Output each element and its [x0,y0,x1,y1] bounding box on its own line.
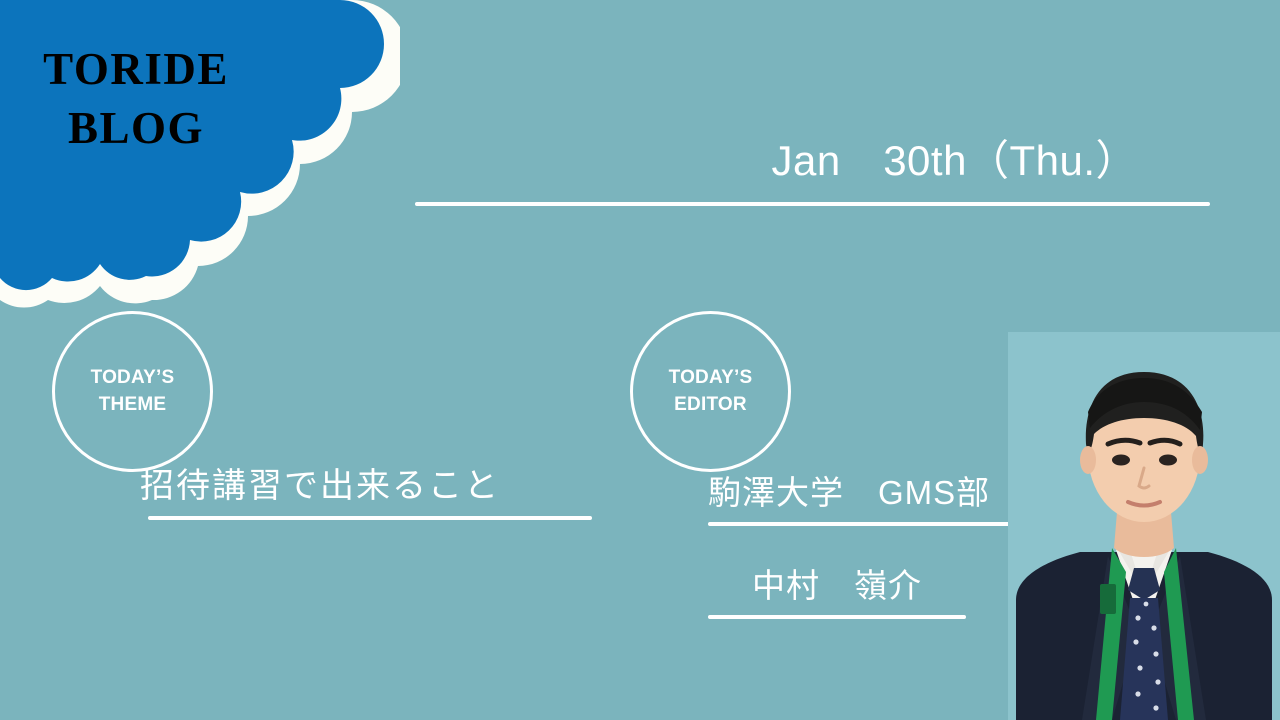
logo-title: TORIDE BLOG [0,40,272,159]
portrait-photo-icon [1008,332,1280,720]
todays-theme-badge-label: TODAY’S THEME [91,365,175,419]
editor-name: 中村 嶺介 [708,566,966,606]
theme-underline [148,516,592,520]
date-underline [415,202,1210,206]
editor-portrait [1008,332,1280,720]
cloud-logo-badge: TORIDE BLOG [0,0,400,310]
editor-name-underline [708,615,966,619]
todays-editor-badge-label: TODAY’S EDITOR [669,365,753,419]
theme-value: 招待講習で出来ること [140,466,500,507]
date-block: Jan 30th（Thu.） [415,136,1210,186]
todays-editor-badge: TODAY’S EDITOR [630,311,791,472]
todays-theme-badge: TODAY’S THEME [52,311,213,472]
date-text: Jan 30th（Thu.） [415,136,1210,186]
blog-header-slide: TORIDE BLOG Jan 30th（Thu.） TODAY’S THEME… [0,0,1280,720]
